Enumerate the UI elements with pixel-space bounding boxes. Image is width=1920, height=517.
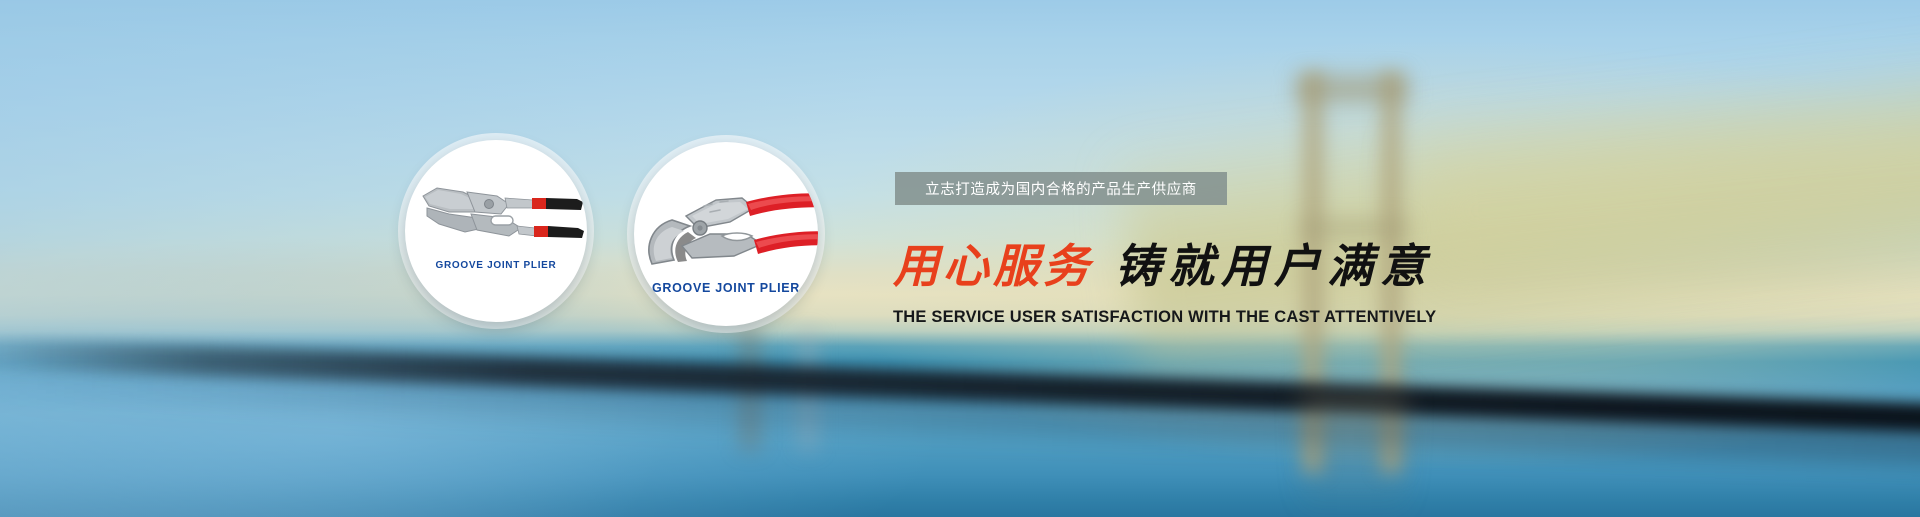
groove-joint-plier-icon [405, 140, 587, 322]
product-circle-2[interactable]: GROOVE JOINT PLIER [634, 142, 818, 326]
product-label-2: GROOVE JOINT PLIER [634, 281, 818, 295]
tagline-text: 立志打造成为国内合格的产品生产供应商 [925, 178, 1197, 199]
product-circle-1[interactable]: GROOVE JOINT PLIER [405, 140, 587, 322]
subheadline: THE SERVICE USER SATISFACTION WITH THE C… [893, 308, 1436, 327]
product-label-1: GROOVE JOINT PLIER [405, 260, 587, 271]
headline: 用心服务铸就用户满意 [893, 243, 1433, 289]
bridge-tower-crossbeam [1300, 220, 1408, 236]
headline-red-text: 用心服务 [893, 239, 1093, 293]
groove-joint-plier-icon [634, 142, 818, 326]
headline-black-text: 铸就用户满意 [1115, 239, 1433, 293]
hero-banner: GROOVE JOINT PLIER [0, 0, 1920, 517]
bridge-tower-cap [1296, 76, 1408, 102]
tagline-bar: 立志打造成为国内合格的产品生产供应商 [895, 172, 1227, 205]
bridge-tower-reflection [1302, 392, 1406, 517]
